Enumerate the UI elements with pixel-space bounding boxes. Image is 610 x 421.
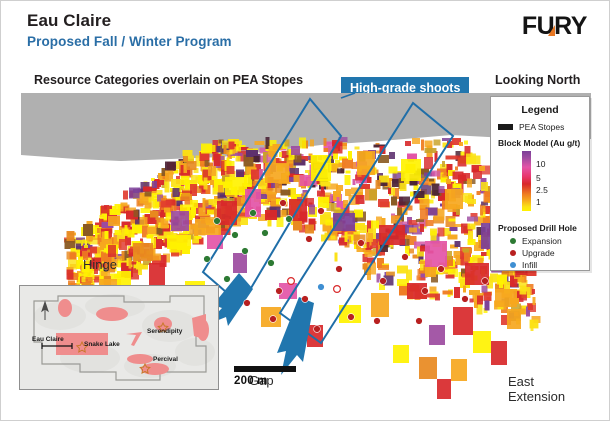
- map-label-hinge: Hinge: [83, 257, 117, 272]
- ramp-tick-2-5: 2.5: [536, 185, 548, 195]
- ramp-tick-10: 10: [536, 159, 545, 169]
- inset-label-serendipity: Serendipity: [147, 328, 182, 335]
- page-subtitle: Proposed Fall / Winter Program: [27, 34, 232, 49]
- fury-logo: FURY: [522, 13, 587, 39]
- ramp-tick-1: 1: [536, 197, 541, 207]
- scale-bar: 200 m: [234, 366, 296, 387]
- upgrade-label: Upgrade: [522, 248, 555, 258]
- inset-label-snake-lake: Snake Lake: [84, 341, 120, 348]
- scale-bar-label: 200 m: [234, 375, 296, 387]
- slide-canvas: Eau Claire Proposed Fall / Winter Progra…: [0, 0, 610, 421]
- block-model-color-ramp: 10 5 2.5 1: [522, 151, 582, 211]
- section-caption: Resource Categories overlain on PEA Stop…: [34, 73, 303, 87]
- legend-row-expansion: Expansion: [498, 236, 582, 246]
- view-direction-label: Looking North: [495, 73, 580, 87]
- map-label-east-extension: EastExtension: [508, 374, 565, 404]
- legend-panel: Legend PEA Stopes Block Model (Au g/t) 1…: [490, 96, 590, 271]
- scale-bar-line: [234, 366, 296, 372]
- logo-triangle-accent-icon: [548, 25, 555, 36]
- legend-row-pea-stopes: PEA Stopes: [498, 122, 582, 132]
- inset-label-eau-claire: Eau Claire: [32, 336, 64, 343]
- pea-stopes-swatch: [498, 124, 513, 130]
- pea-stopes-label: PEA Stopes: [519, 122, 564, 132]
- inset-label-percival: Percival: [153, 356, 178, 363]
- infill-dot-icon: [510, 262, 516, 268]
- drill-hole-legend-title: Proposed Drill Hole: [498, 223, 582, 233]
- legend-row-infill: Infill: [498, 260, 582, 270]
- page-title: Eau Claire: [27, 11, 111, 31]
- expansion-dot-icon: [510, 238, 516, 244]
- color-ramp-gradient: [522, 151, 531, 211]
- infill-label: Infill: [522, 260, 537, 270]
- legend-title: Legend: [498, 104, 582, 116]
- upgrade-dot-icon: [510, 250, 516, 256]
- expansion-label: Expansion: [522, 236, 562, 246]
- legend-row-upgrade: Upgrade: [498, 248, 582, 258]
- color-ramp-tick-labels: 10 5 2.5 1: [536, 151, 560, 211]
- block-model-legend-title: Block Model (Au g/t): [498, 138, 582, 148]
- ramp-tick-5: 5: [536, 173, 541, 183]
- inset-property-map: Eau Claire Snake Lake Serendipity Perciv…: [19, 285, 219, 390]
